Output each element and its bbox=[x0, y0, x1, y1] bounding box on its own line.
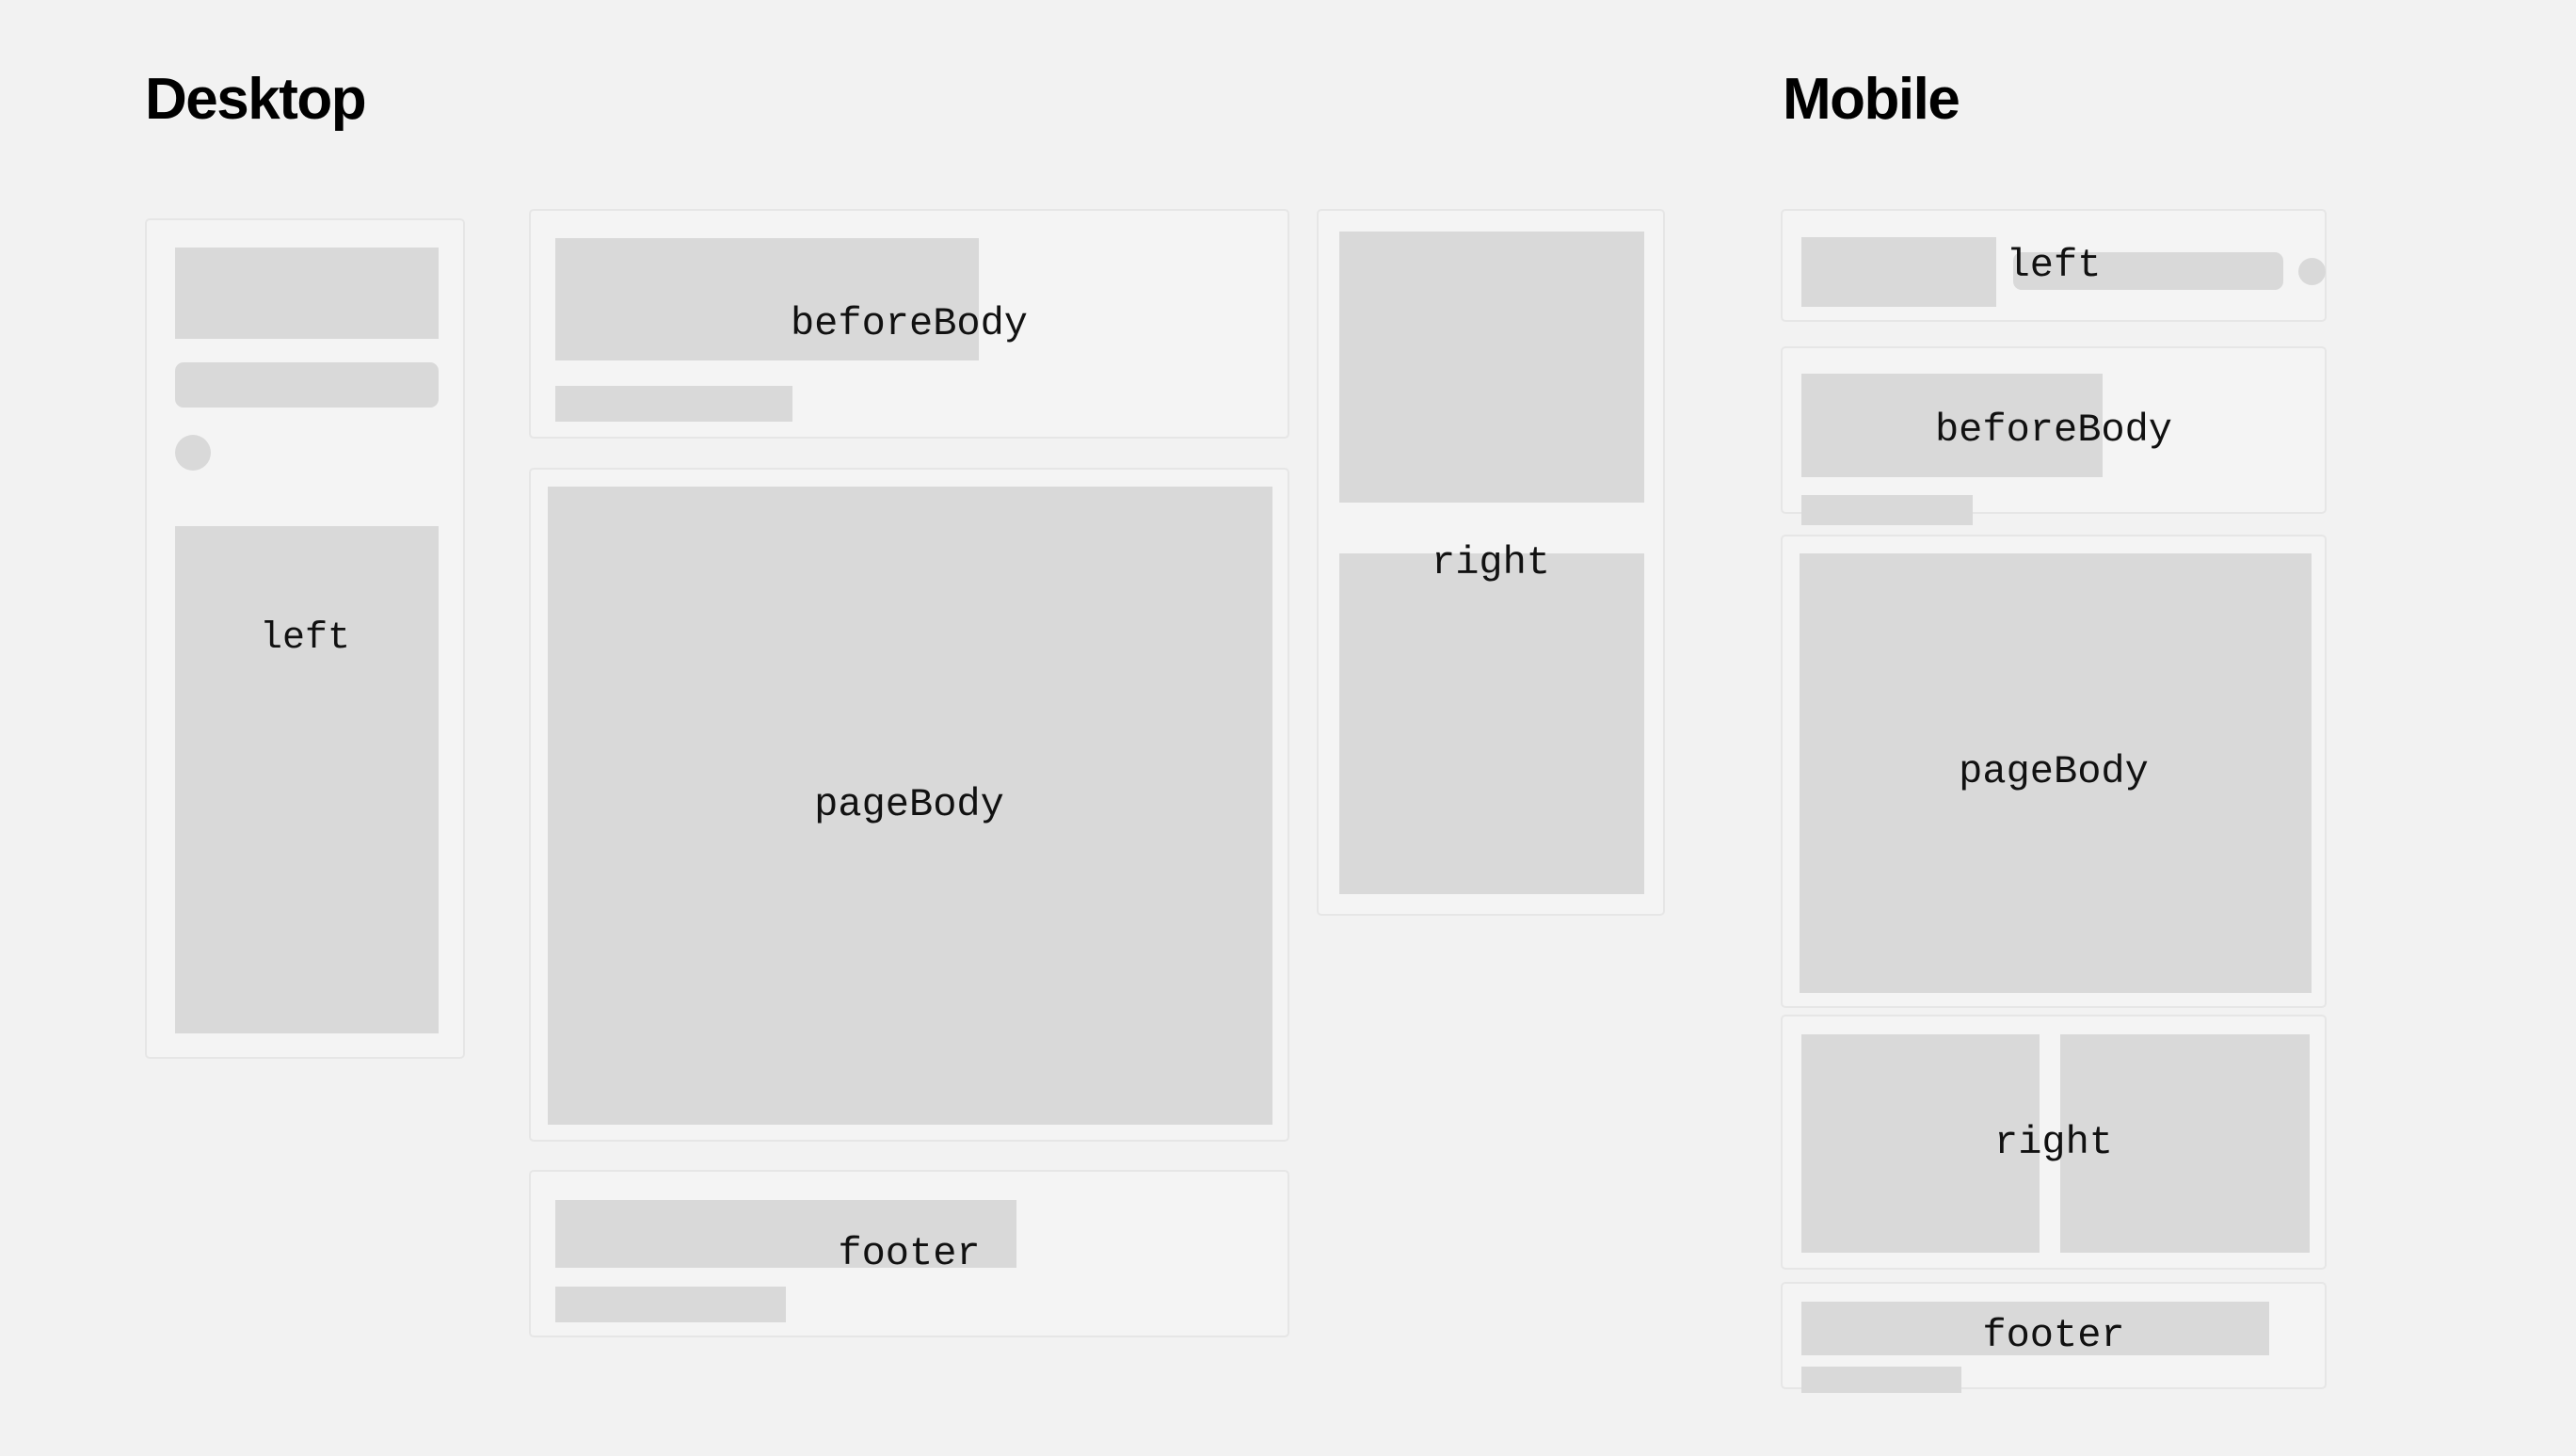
skeleton-avatar bbox=[2298, 258, 2326, 285]
skeleton-block bbox=[1339, 232, 1644, 503]
desktop-left-panel[interactable] bbox=[145, 218, 465, 1059]
skeleton-block bbox=[555, 238, 979, 360]
layout-preview-stage: Desktop left beforeBody pageBody right f… bbox=[0, 0, 2576, 1456]
skeleton-block bbox=[1801, 1034, 2040, 1253]
desktop-section-title: Desktop bbox=[145, 71, 365, 129]
skeleton-bar bbox=[175, 362, 439, 408]
skeleton-block bbox=[1800, 553, 2312, 993]
desktop-footer-panel[interactable] bbox=[529, 1170, 1289, 1337]
mobile-right-panel[interactable] bbox=[1781, 1015, 2327, 1270]
skeleton-block bbox=[2060, 1034, 2310, 1253]
skeleton-block bbox=[175, 526, 439, 1033]
mobile-page-body-panel[interactable] bbox=[1781, 535, 2327, 1008]
skeleton-block bbox=[548, 487, 1272, 1125]
skeleton-bar bbox=[2013, 252, 2283, 290]
mobile-left-panel[interactable] bbox=[1781, 209, 2327, 322]
skeleton-avatar bbox=[175, 435, 211, 471]
skeleton-block bbox=[1339, 553, 1644, 894]
skeleton-block bbox=[1801, 237, 1996, 307]
skeleton-bar bbox=[1801, 495, 1973, 525]
skeleton-block bbox=[1801, 374, 2103, 477]
mobile-section-title: Mobile bbox=[1783, 71, 1959, 129]
mobile-before-body-panel[interactable] bbox=[1781, 346, 2327, 514]
desktop-right-panel[interactable] bbox=[1317, 209, 1665, 916]
mobile-footer-panel[interactable] bbox=[1781, 1282, 2327, 1389]
skeleton-bar bbox=[555, 386, 792, 422]
skeleton-bar bbox=[555, 1287, 786, 1322]
skeleton-block bbox=[555, 1200, 1016, 1268]
skeleton-bar bbox=[1801, 1367, 1961, 1393]
desktop-before-body-panel[interactable] bbox=[529, 209, 1289, 439]
skeleton-block bbox=[175, 248, 439, 339]
skeleton-block bbox=[1801, 1302, 2269, 1355]
desktop-page-body-panel[interactable] bbox=[529, 468, 1289, 1142]
